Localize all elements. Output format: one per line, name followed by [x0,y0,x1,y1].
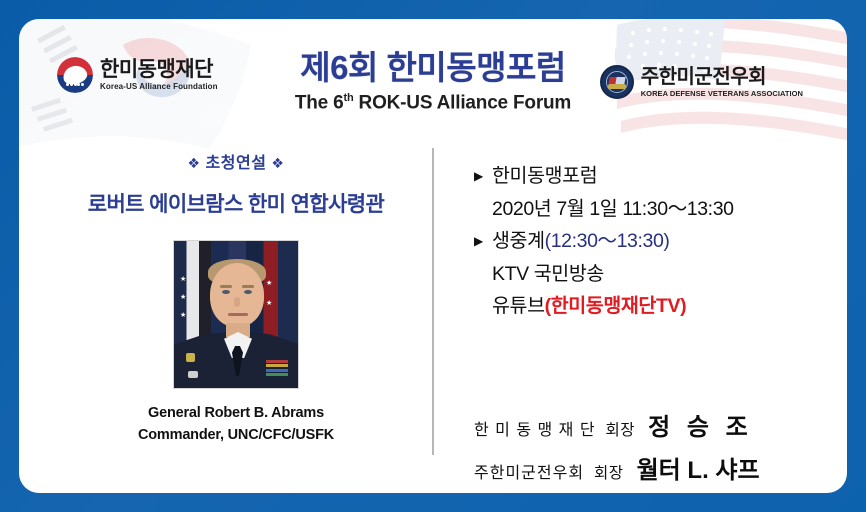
event-details-panel: ▶ 한미동맹포럼 2020년 7월 1일 11:30～13:30 ▶ 생중계 (… [474,167,847,330]
event-line-forum: ▶ 한미동맹포럼 [474,167,847,187]
kdva-name-ko: 주한미군전우회 [641,67,803,88]
title-en-ordinal: th [343,92,353,104]
column-divider [432,148,434,455]
signature-row-kuaf: 한 미 동 맹 재 단 회장 정 승 조 [474,407,847,442]
speaker-caption: General Robert B. Abrams Commander, UNC/… [41,402,431,447]
title-en-post: ROK-US Alliance Forum [353,92,571,113]
event-line-youtube: 유튜브 (한미동맹재단TV) [474,297,847,317]
kuaf-name-ko: 한미동맹재단 [100,59,218,81]
signature-block: 한 미 동 맹 재 단 회장 정 승 조 주한미군전우회 회장 월터 L. 샤프 [474,407,847,493]
event-tv-channel: KTV 국민방송 [492,265,604,285]
event-livestream-time: (12:30～13:30) [545,232,670,252]
kuaf-logo: 한미동맹재단 Korea-US Alliance Foundation [57,57,218,93]
poster-root: 한미동맹재단 Korea-US Alliance Foundation 주한미군… [0,0,866,512]
title-en-pre: The 6 [295,92,344,113]
triangle-bullet-icon: ▶ [474,170,492,182]
triangle-bullet-icon: ▶ [474,235,492,247]
signature-role-kdva: 회장 [594,461,624,483]
signature-org-kdva: 주한미군전우회 [474,459,584,483]
speaker-title-ko: 로버트 에이브람스 한미 연합사령관 [41,188,431,218]
signature-role-kuaf: 회장 [606,418,636,440]
signature-row-kdva: 주한미군전우회 회장 월터 L. 샤프 [474,450,847,485]
invited-speech-text: 초청연설 [206,155,267,172]
event-line-channel: KTV 국민방송 [474,265,847,285]
signature-name-kdva: 월터 L. 샤프 [637,450,760,485]
diamond-ornament-left-icon: ❖ [188,155,201,171]
diamond-ornament-right-icon: ❖ [271,155,284,171]
speaker-caption-line1: General Robert B. Abrams [41,402,431,424]
kdva-name-en: KOREA DEFENSE VETERANS ASSOCIATION [641,89,803,98]
event-youtube-label: 유튜브 [492,297,545,317]
speaker-caption-line2: Commander, UNC/CFC/USFK [41,424,431,446]
signature-org-kuaf: 한 미 동 맹 재 단 [474,416,596,440]
event-youtube-channel: (한미동맹재단TV) [545,297,687,317]
event-line-livestream: ▶ 생중계 (12:30～13:30) [474,232,847,252]
speaker-panel: ❖ 초청연설 ❖ 로버트 에이브람스 한미 연합사령관 ★ ★ ★ ★ ★ [41,149,431,447]
poster-card: 한미동맹재단 Korea-US Alliance Foundation 주한미군… [19,19,847,493]
event-line-datetime: 2020년 7월 1일 11:30～13:30 [474,200,847,220]
event-livestream-label: 생중계 [492,232,545,252]
invited-speech-label: ❖ 초청연설 ❖ [41,149,431,173]
speaker-portrait-photo: ★ ★ ★ ★ ★ [173,240,299,389]
event-datetime: 2020년 7월 1일 11:30～13:30 [492,200,734,220]
kuaf-emblem-icon [57,57,93,93]
signature-name-kuaf: 정 승 조 [648,407,753,442]
kdva-logo: 주한미군전우회 KOREA DEFENSE VETERANS ASSOCIATI… [600,65,803,99]
kdva-emblem-icon [600,65,634,99]
event-forum-label: 한미동맹포럼 [492,167,597,187]
kuaf-name-en: Korea-US Alliance Foundation [100,82,218,91]
